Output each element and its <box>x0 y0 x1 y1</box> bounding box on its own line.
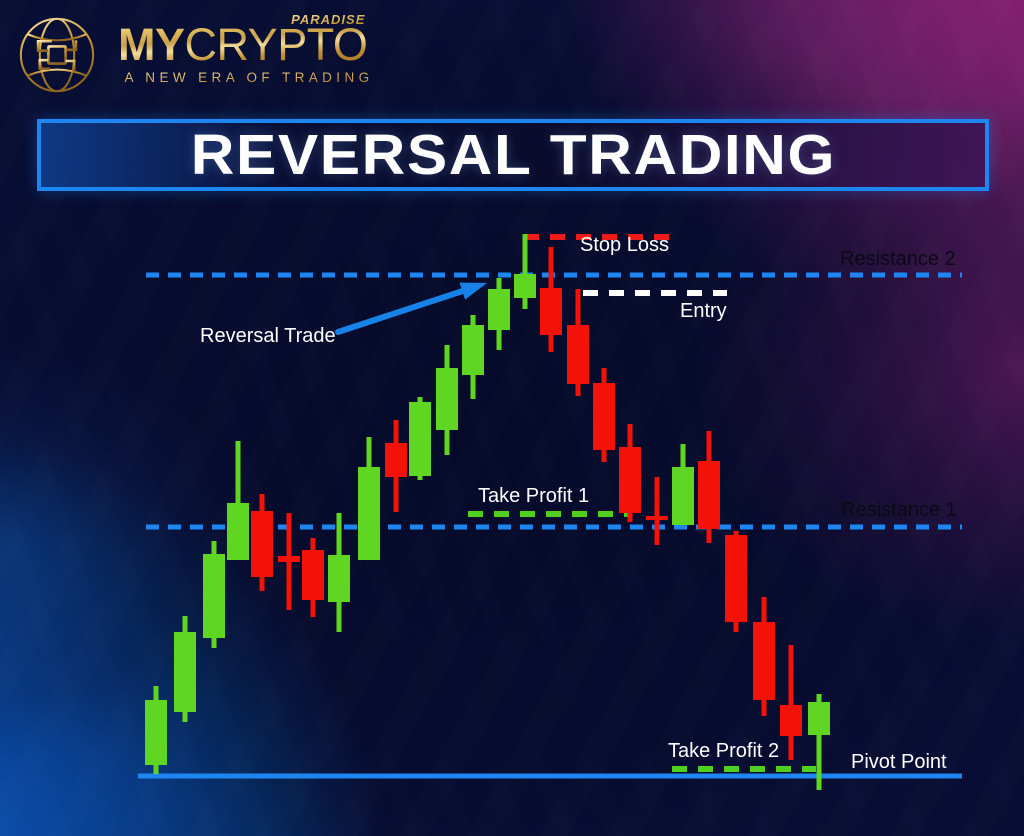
candle <box>593 368 615 462</box>
brand-superscript: PARADISE <box>291 12 365 27</box>
label-resistance-1: Resistance 1 <box>841 499 957 522</box>
candle <box>698 431 720 543</box>
candle-body <box>514 274 536 298</box>
arrow-head <box>459 283 487 300</box>
candle <box>203 541 225 648</box>
candle-body <box>385 443 407 477</box>
reversal-trade-arrow <box>338 283 487 332</box>
candle-body <box>409 402 431 476</box>
label-take-profit-1: Take Profit 1 <box>478 485 589 508</box>
candle <box>540 247 562 352</box>
candle-body <box>203 554 225 638</box>
page-title: REVERSAL TRADING <box>190 122 835 188</box>
slide-canvas: MYCRYPTO PARADISE A NEW ERA OF TRADING R… <box>0 0 1024 836</box>
candle <box>725 531 747 632</box>
label-reversal-trade: Reversal Trade <box>200 325 336 348</box>
title-banner: REVERSAL TRADING <box>37 119 989 191</box>
candle-body <box>780 705 802 736</box>
candle-body <box>672 467 694 525</box>
candle-body <box>251 511 273 577</box>
label-pivot-point: Pivot Point <box>851 751 947 774</box>
arrow-shaft <box>338 289 468 332</box>
label-resistance-2: Resistance 2 <box>840 248 956 271</box>
candle <box>514 234 536 309</box>
candle-body <box>753 622 775 700</box>
candlestick-chart: Stop LossResistance 2EntryTake Profit 1R… <box>0 196 1024 836</box>
candle-body <box>619 447 641 513</box>
label-entry: Entry <box>680 300 727 323</box>
candle-body <box>540 288 562 335</box>
candle-body <box>328 555 350 602</box>
candle-body <box>725 535 747 622</box>
candle <box>567 289 589 396</box>
globe-circuit-icon <box>14 12 100 98</box>
candle-body <box>174 632 196 712</box>
candle <box>174 616 196 722</box>
candle-body <box>593 383 615 450</box>
candle <box>753 597 775 716</box>
candle <box>619 424 641 522</box>
brand-logo: MYCRYPTO PARADISE A NEW ERA OF TRADING <box>10 8 390 102</box>
brand-name: MYCRYPTO <box>118 22 367 68</box>
candle <box>646 477 668 545</box>
candle <box>436 345 458 455</box>
candle <box>358 437 380 560</box>
candle <box>385 420 407 512</box>
candle <box>328 513 350 632</box>
candle-body <box>278 556 300 562</box>
candle-body <box>462 325 484 375</box>
candle <box>145 686 167 774</box>
candle-body <box>567 325 589 384</box>
candle-body <box>227 503 249 560</box>
candle-body <box>698 461 720 529</box>
label-take-profit-2: Take Profit 2 <box>668 740 779 763</box>
brand-wordmark: MYCRYPTO PARADISE A NEW ERA OF TRADING <box>118 22 380 85</box>
candle <box>409 397 431 480</box>
candle <box>488 278 510 350</box>
candle <box>780 645 802 760</box>
candle-body <box>145 700 167 765</box>
candle-body <box>302 550 324 600</box>
candle-body <box>358 467 380 560</box>
candle <box>462 315 484 399</box>
label-stop-loss: Stop Loss <box>580 234 669 257</box>
candle-body <box>808 702 830 735</box>
candle <box>227 441 249 560</box>
brand-tagline: A NEW ERA OF TRADING <box>118 70 380 85</box>
candle-body <box>436 368 458 430</box>
candle <box>302 538 324 617</box>
candle-body <box>646 516 668 520</box>
candle <box>251 494 273 591</box>
candle <box>672 444 694 525</box>
candle-body <box>488 289 510 330</box>
brand-name-bold: MY <box>118 19 185 70</box>
